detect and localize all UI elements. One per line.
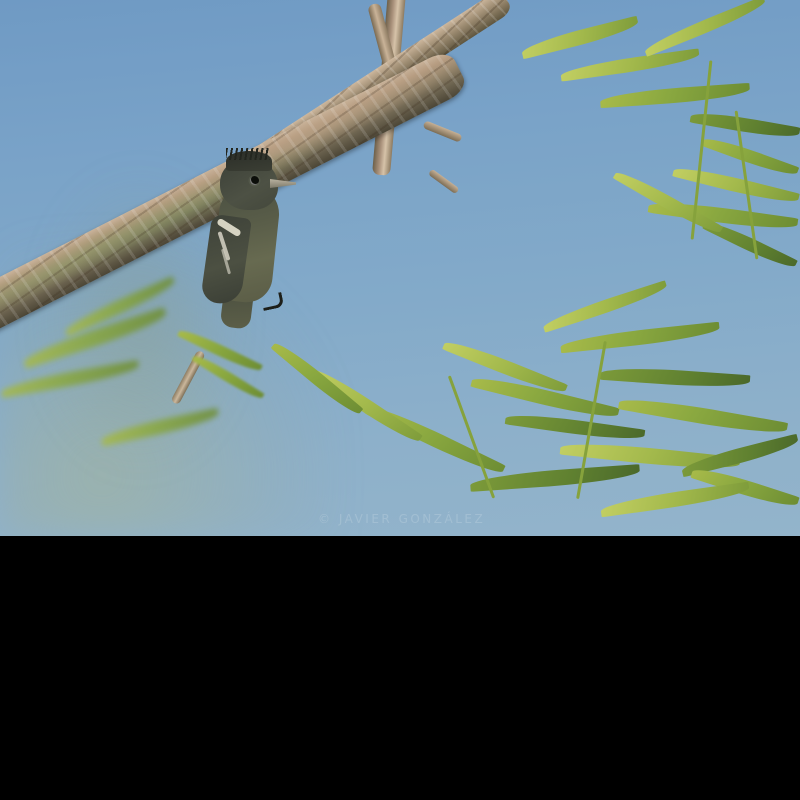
photo-card: © JAVIER GONZÁLEZ Anambé común White-win… bbox=[0, 0, 800, 800]
twig-small bbox=[428, 169, 460, 195]
twig-small bbox=[423, 120, 463, 142]
bird-subject bbox=[196, 148, 316, 320]
bird-photograph: © JAVIER GONZÁLEZ bbox=[0, 0, 800, 536]
bird-eye bbox=[250, 176, 259, 185]
caption-bar: Anambé común – Pachyramphus polychopteru… bbox=[0, 736, 800, 800]
title-block: Anambé común White-winged Becard Pachyra… bbox=[0, 536, 800, 736]
bird-beak bbox=[270, 179, 296, 188]
photo-watermark: © JAVIER GONZÁLEZ bbox=[318, 512, 485, 526]
bird-crest-tufts bbox=[226, 148, 270, 160]
bird-foot bbox=[261, 292, 285, 311]
